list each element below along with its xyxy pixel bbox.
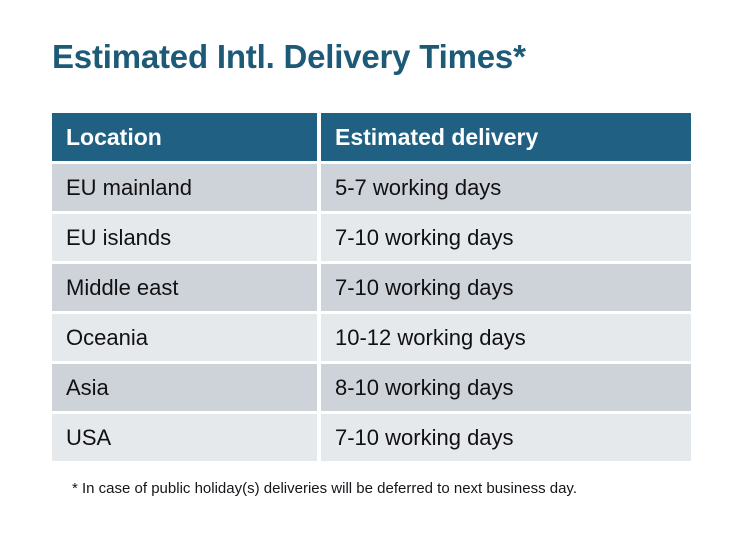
cell-delivery: 10-12 working days <box>321 314 691 361</box>
cell-location: EU mainland <box>52 164 317 211</box>
footnote-text: * In case of public holiday(s) deliverie… <box>72 479 577 499</box>
delivery-times-page: Estimated Intl. Delivery Times* Location… <box>0 0 745 536</box>
delivery-times-table: Location Estimated delivery EU mainland … <box>52 113 691 464</box>
cell-location: Oceania <box>52 314 317 361</box>
column-header-location: Location <box>52 113 317 161</box>
cell-location: EU islands <box>52 214 317 261</box>
cell-delivery: 7-10 working days <box>321 264 691 311</box>
cell-location: Middle east <box>52 264 317 311</box>
table-row: EU mainland 5-7 working days <box>52 164 691 211</box>
column-header-estimated-delivery: Estimated delivery <box>321 113 691 161</box>
table-row: Oceania 10-12 working days <box>52 314 691 361</box>
table-row: Middle east 7-10 working days <box>52 264 691 311</box>
cell-delivery: 5-7 working days <box>321 164 691 211</box>
table-row: USA 7-10 working days <box>52 414 691 461</box>
cell-delivery: 7-10 working days <box>321 414 691 461</box>
cell-location: USA <box>52 414 317 461</box>
table-header-row: Location Estimated delivery <box>52 113 691 161</box>
cell-delivery: 8-10 working days <box>321 364 691 411</box>
table-row: Asia 8-10 working days <box>52 364 691 411</box>
page-title: Estimated Intl. Delivery Times* <box>52 37 526 77</box>
cell-delivery: 7-10 working days <box>321 214 691 261</box>
table-row: EU islands 7-10 working days <box>52 214 691 261</box>
cell-location: Asia <box>52 364 317 411</box>
